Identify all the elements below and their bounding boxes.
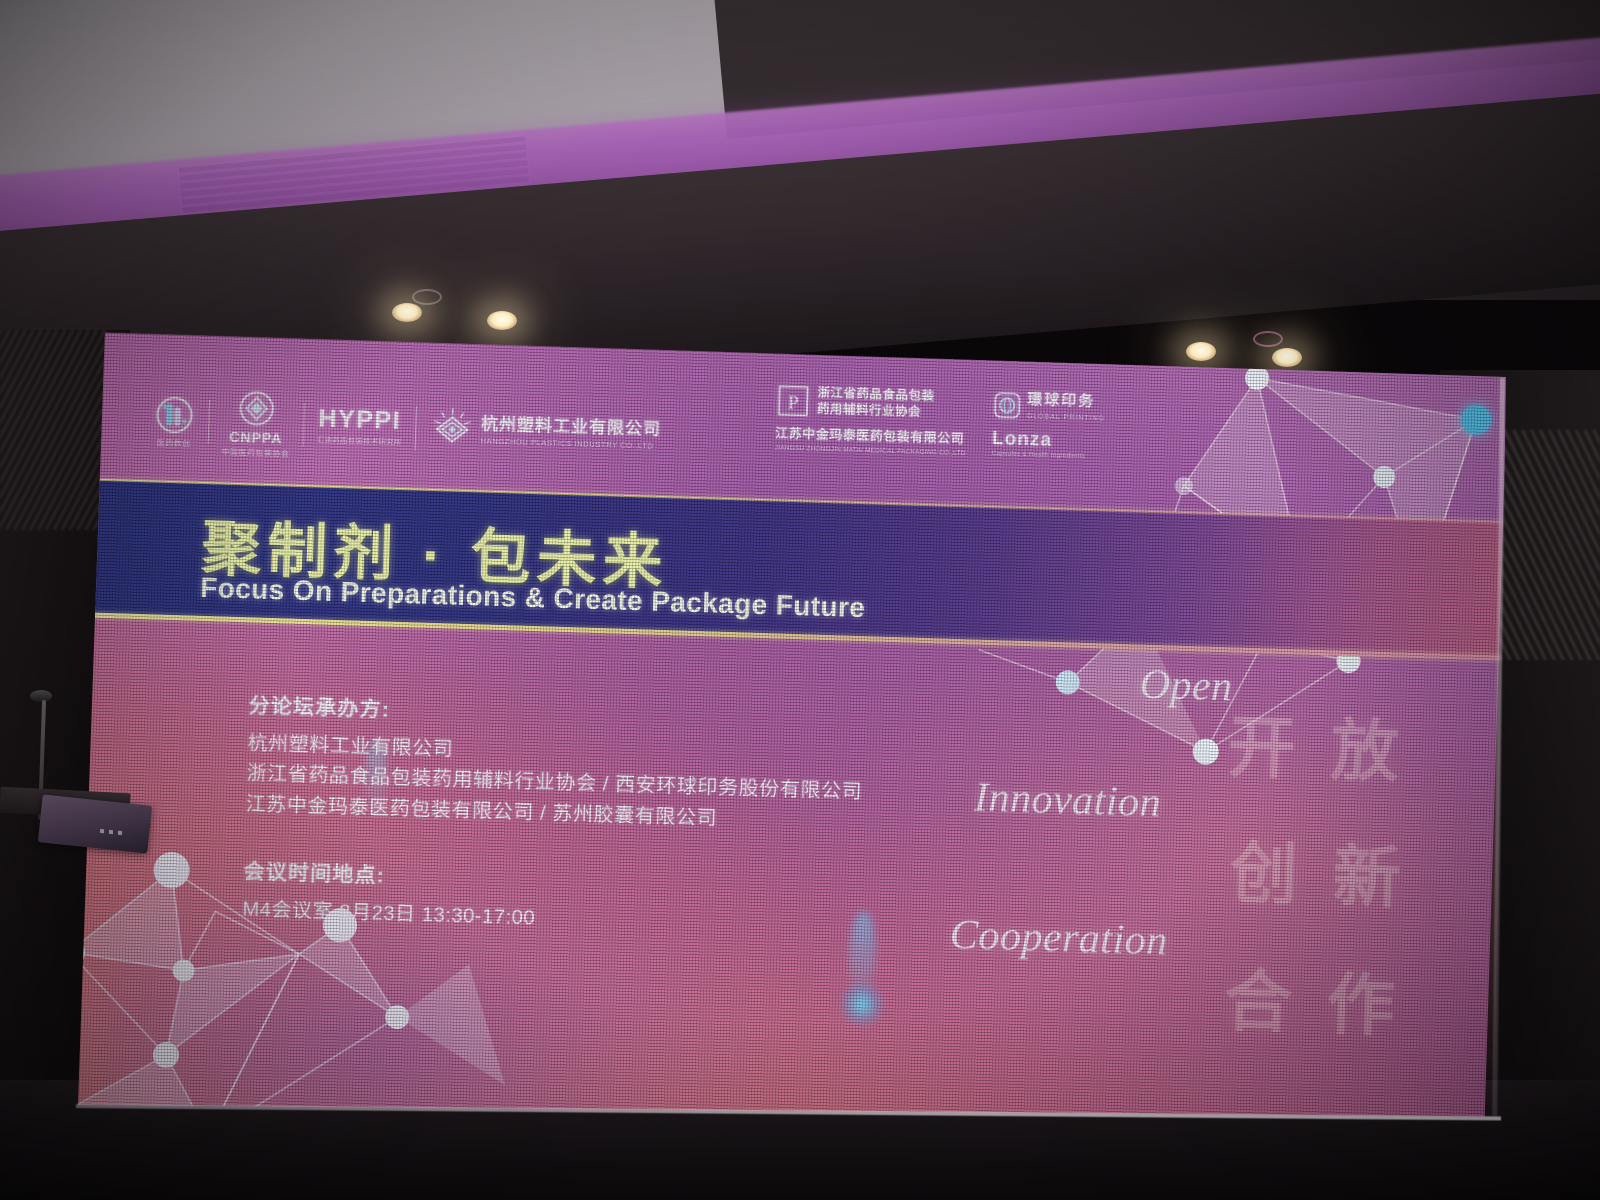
- logo-3-acronym: HYPPI: [318, 406, 401, 434]
- logo-6-en: GLOBAL PRINTING: [1027, 413, 1105, 423]
- logo-group-b: 璟球印务 GLOBAL PRINTING Lonza Capsules & He…: [991, 390, 1105, 461]
- conference-hall-photo: 医药数创 CNPPA 中国医药包装协会 HYPPI 汇贤药品包装技术研究所: [0, 0, 1600, 1200]
- diamond-burst-mark-icon: [428, 406, 475, 453]
- logo-1-label: 医药数创: [156, 437, 190, 449]
- logo-8: Lonza Capsules & Health Ingredients: [991, 429, 1085, 460]
- logo-divider: [414, 406, 416, 450]
- svg-text:P: P: [787, 392, 799, 414]
- logo-2-label: 中国医药包装协会: [221, 446, 289, 459]
- slogan-cn-innovation: 创 新: [1229, 817, 1411, 921]
- logo-4-en: HANGZHOU PLASTICS INDUSTRY CO.,LTD: [480, 436, 660, 450]
- ceiling-spotlight-icon: [487, 311, 517, 330]
- cnppa-diamond-mark-icon: [237, 388, 276, 427]
- p-square-mark-icon: P: [776, 383, 811, 418]
- logo-3: HYPPI 汇贤药品包装技术研究所: [317, 406, 403, 448]
- slogan-en-innovation: Innovation: [973, 774, 1161, 828]
- slogan-cn-open: 开 放: [1227, 691, 1409, 795]
- slogan-en-open: Open: [1139, 661, 1233, 712]
- slogan-en-cooperation: Cooperation: [949, 911, 1168, 966]
- logo-4-label: 杭州塑料工业有限公司: [481, 415, 661, 438]
- ceiling-spotlight-icon: [392, 303, 422, 322]
- ceiling-spotlight-icon: [1272, 348, 1302, 367]
- led-screen-surface: 医药数创 CNPPA 中国医药包装协会 HYPPI 汇贤药品包装技术研究所: [54, 332, 1507, 1165]
- microphone-icon: [30, 690, 52, 702]
- logo-2: CNPPA 中国医药包装协会: [221, 388, 291, 459]
- logo-divider: [303, 403, 305, 447]
- globe-mark-icon: [993, 391, 1022, 420]
- logo-group-a: P 浙江省药品食品包装 药用辅料行业协会 江苏中金玛泰医药包装有限公司 JIAN…: [775, 383, 968, 457]
- slogan-cn-cooperation: 合 作: [1223, 945, 1405, 1049]
- stage-left-texture: [0, 330, 110, 530]
- logo-1: 医药数创: [152, 393, 196, 449]
- sponsor-logo-row-right: P 浙江省药品食品包装 药用辅料行业协会 江苏中金玛泰医药包装有限公司 JIAN…: [775, 383, 1106, 461]
- logo-5-label-2: 药用辅料行业协会: [817, 402, 934, 421]
- logo-3-label: 汇贤药品包装技术研究所: [317, 434, 402, 448]
- capsule-circle-mark-icon: [153, 393, 196, 436]
- event-details: 分论坛承办方: 杭州塑料工业有限公司 浙江省药品食品包装药用辅料行业协会 / 西…: [242, 689, 969, 946]
- logo-divider: [208, 400, 210, 444]
- logo-2-acronym: CNPPA: [229, 428, 282, 446]
- logo-5: P 浙江省药品食品包装 药用辅料行业协会: [776, 383, 968, 423]
- logo-4: 杭州塑料工业有限公司 HANGZHOU PLASTICS INDUSTRY CO…: [428, 406, 661, 459]
- logo-6: 璟球印务 GLOBAL PRINTING: [993, 390, 1106, 423]
- slogan-block: 开 放 Open 创 新 Innovation 合 作 Cooperation: [957, 649, 1489, 1065]
- logo-8-acronym: Lonza: [992, 429, 1086, 451]
- logo-7-label: 江苏中金玛泰医药包装有限公司: [775, 425, 966, 447]
- spotlight-ring: [1253, 331, 1283, 347]
- logo-6-label: 璟球印务: [1027, 391, 1106, 412]
- spotlight-ring: [412, 289, 442, 305]
- ceiling-spotlight-icon: [1186, 342, 1216, 361]
